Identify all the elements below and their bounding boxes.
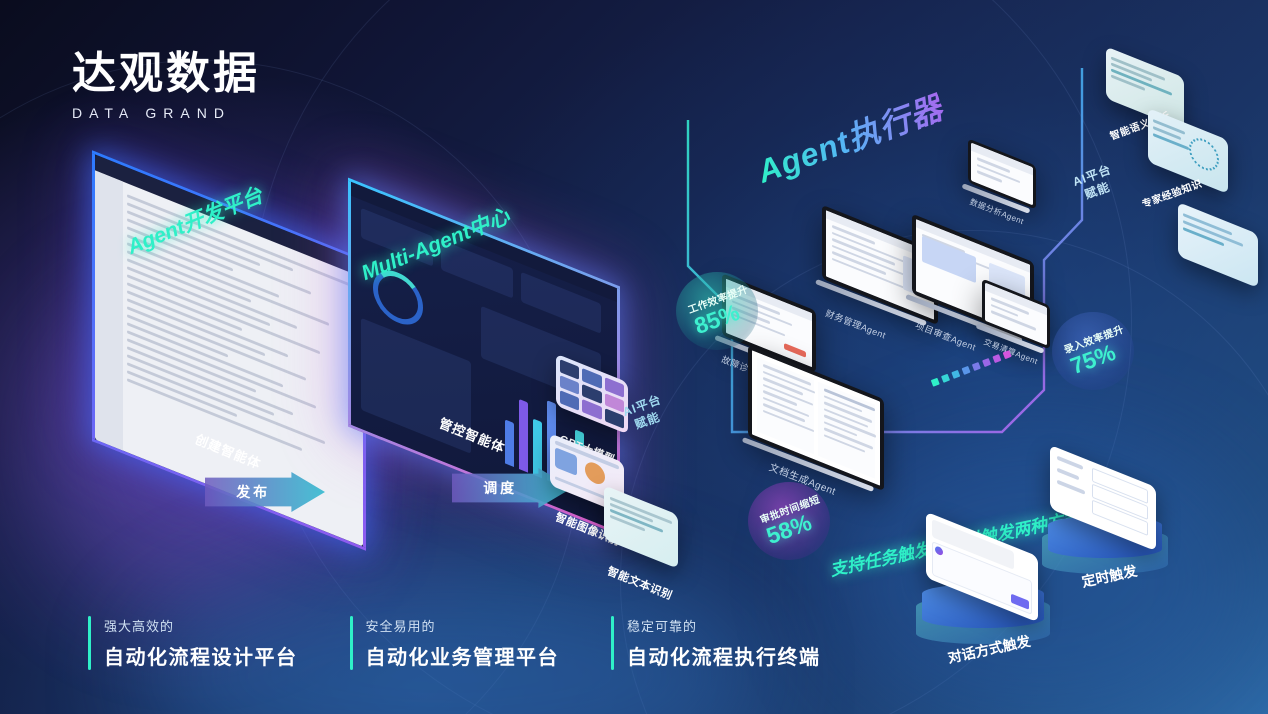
metric-badge-efficiency: 工作效率提升 85% — [676, 272, 758, 350]
card-text-recognition[interactable] — [604, 485, 678, 569]
form-field-row — [1057, 468, 1079, 481]
card-knowledge-graph[interactable] — [1178, 202, 1258, 288]
caption-design-platform-sub: 强大高效的 — [104, 616, 298, 635]
caption-accent-bar — [611, 616, 614, 670]
bar — [519, 399, 528, 473]
form-field-row — [1057, 480, 1085, 495]
dev-platform-toolbar — [95, 170, 123, 450]
brand-name-en: DATA GRAND — [72, 105, 260, 121]
caption-accent-bar — [350, 616, 353, 670]
caption-execution-terminal: 稳定可靠的 自动化流程执行终端 — [611, 616, 821, 670]
caption-execution-terminal-main: 自动化流程执行终端 — [627, 641, 821, 670]
metric-badge-entry: 录入效率提升 75% — [1052, 312, 1134, 390]
label-expert-knowledge: 专家经验知识 — [1139, 175, 1203, 211]
caption-management-platform-sub: 安全易用的 — [366, 616, 560, 635]
bottom-captions: 强大高效的 自动化流程设计平台 安全易用的 自动化业务管理平台 稳定可靠的 自动… — [88, 616, 821, 670]
caption-accent-bar — [88, 616, 91, 670]
brand-name-cn: 达观数据 — [72, 52, 260, 96]
caption-design-platform-main: 自动化流程设计平台 — [104, 641, 298, 670]
card-knowledge-graph-content — [1183, 209, 1253, 281]
caption-design-platform: 强大高效的 自动化流程设计平台 — [88, 616, 298, 670]
caption-execution-terminal-sub: 稳定可靠的 — [627, 616, 821, 635]
metric-badge-approval: 审批时间缩短 58% — [748, 482, 830, 560]
arrow-publish-label: 发布 — [236, 482, 270, 502]
arrow-dispatch-label: 调度 — [483, 478, 517, 498]
arrow-publish: 发布 — [205, 472, 325, 512]
doc-page-right — [818, 382, 875, 479]
caption-management-platform-main: 自动化业务管理平台 — [366, 641, 560, 670]
caption-management-platform: 安全易用的 自动化业务管理平台 — [350, 616, 560, 670]
card-expert-knowledge-content — [1153, 115, 1223, 187]
form-field-row — [1057, 456, 1083, 470]
brand-logo: 达观数据 DATA GRAND — [72, 52, 260, 121]
fault-diagnosis-alert — [784, 343, 806, 358]
doc-page-left — [757, 357, 814, 454]
card-text-recognition-content — [610, 494, 672, 561]
label-text-recognition: 智能文本识别 — [605, 563, 675, 604]
poster-canvas: 达观数据 DATA GRAND Agent开发平台 创建智能体 发布 — [0, 0, 1268, 714]
